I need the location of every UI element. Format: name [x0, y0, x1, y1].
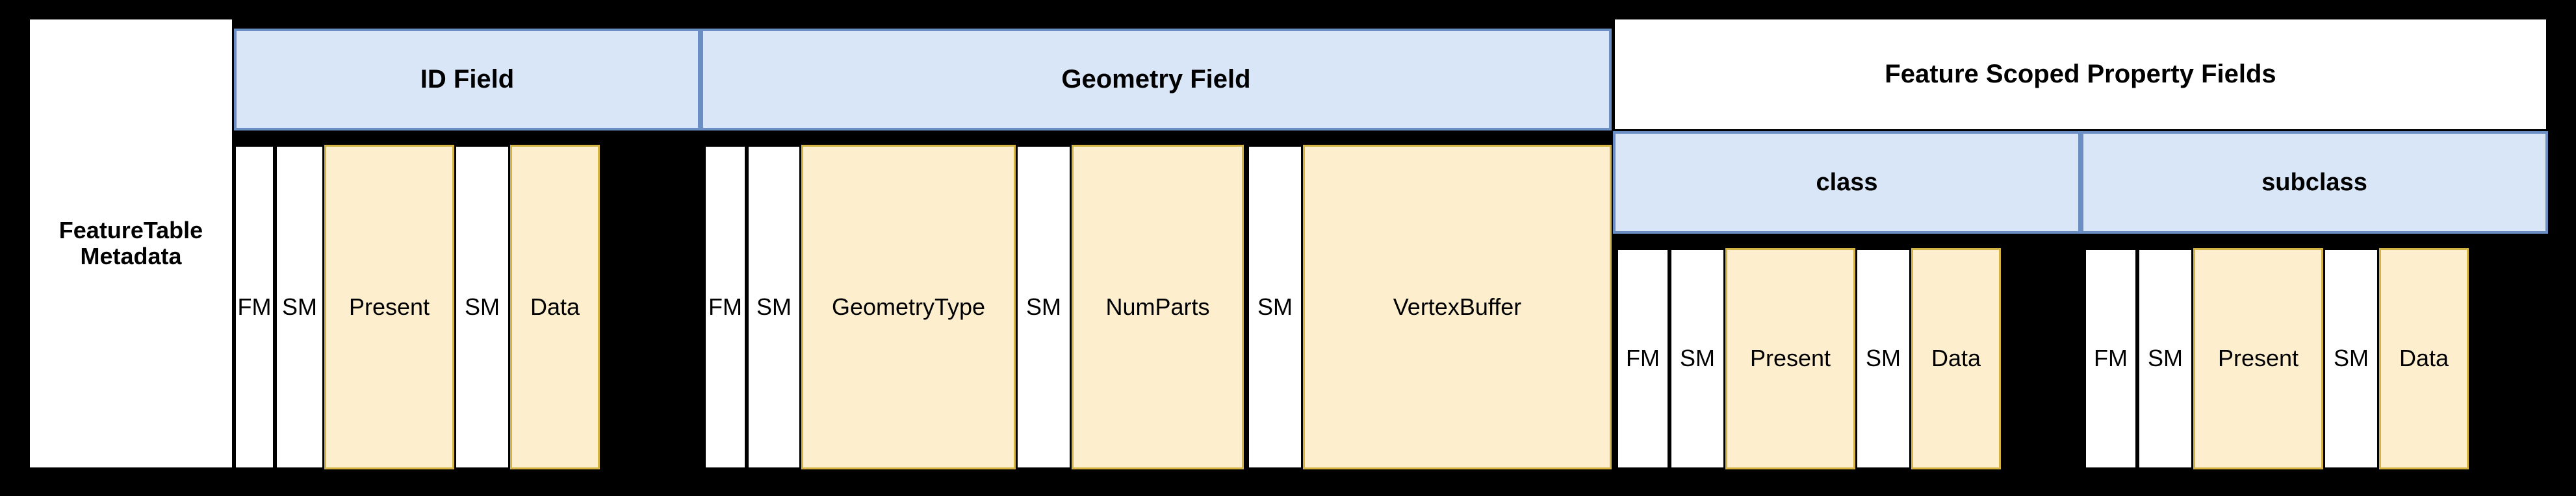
leaf-subclass-sm-2-label: SM [2334, 345, 2369, 371]
group-header-geometry-field: Geometry Field [701, 29, 1612, 130]
featuretable-metadata-line2: Metadata [80, 243, 181, 269]
leaf-id-field-present-label: Present [349, 294, 430, 320]
leaf-geometry-geometrytype-label: GeometryType [832, 294, 985, 320]
leaf-class-sm-1-label: SM [1680, 345, 1715, 371]
leaf-id-field-sm-2: SM [454, 145, 510, 469]
leaf-subclass-present-label: Present [2218, 345, 2299, 371]
leaf-class-fm: FM [1616, 248, 1669, 469]
leaf-geometry-sm-2: SM [1016, 145, 1072, 469]
leaf-geometry-sm-1-label: SM [756, 294, 792, 320]
leaf-subclass-sm-1: SM [2137, 248, 2193, 469]
leaf-geometry-fm-label: FM [708, 294, 742, 320]
leaf-geometry-sm-1: SM [747, 145, 801, 469]
leaf-class-data-label: Data [1931, 345, 1981, 371]
leaf-subclass-fm: FM [2084, 248, 2137, 469]
featuretable-metadata-cell: FeatureTable Metadata [28, 18, 234, 469]
leaf-class-fm-label: FM [1626, 345, 1660, 371]
leaf-geometry-fm: FM [704, 145, 747, 469]
leaf-id-field-data: Data [510, 145, 600, 469]
subgroup-header-subclass-label: subclass [2261, 169, 2367, 197]
leaf-id-field-present: Present [324, 145, 454, 469]
leaf-id-field-sm-2-label: SM [465, 294, 500, 320]
group-header-id-field-label: ID Field [420, 65, 514, 94]
featuretable-metadata-line1: FeatureTable [59, 217, 203, 243]
leaf-class-sm-1: SM [1669, 248, 1725, 469]
leaf-id-field-fm: FM [234, 145, 275, 469]
group-header-geometry-field-label: Geometry Field [1061, 65, 1250, 94]
leaf-class-present: Present [1725, 248, 1855, 469]
subgroup-header-subclass: subclass [2081, 131, 2548, 234]
leaf-geometry-vertexbuffer: VertexBuffer [1303, 145, 1612, 469]
featuretable-layout-diagram: FeatureTable Metadata ID Field FM SM Pre… [0, 0, 2576, 496]
leaf-subclass-data: Data [2379, 248, 2469, 469]
group-header-feature-scoped-property-fields: Feature Scoped Property Fields [1613, 18, 2548, 131]
leaf-id-field-sm-1: SM [275, 145, 324, 469]
leaf-geometry-sm-3: SM [1247, 145, 1303, 469]
leaf-geometry-sm-2-label: SM [1026, 294, 1061, 320]
leaf-class-present-label: Present [1750, 345, 1831, 371]
subgroup-header-class: class [1613, 131, 2081, 234]
leaf-geometry-vertexbuffer-label: VertexBuffer [1393, 294, 1521, 320]
leaf-class-sm-2: SM [1855, 248, 1911, 469]
leaf-id-field-data-label: Data [530, 294, 580, 320]
leaf-geometry-numparts-label: NumParts [1105, 294, 1209, 320]
leaf-geometry-numparts: NumParts [1072, 145, 1244, 469]
leaf-subclass-sm-2: SM [2323, 248, 2379, 469]
leaf-subclass-fm-label: FM [2094, 345, 2128, 371]
leaf-subclass-data-label: Data [2399, 345, 2449, 371]
leaf-class-data: Data [1911, 248, 2001, 469]
leaf-subclass-sm-1-label: SM [2148, 345, 2183, 371]
leaf-geometry-sm-3-label: SM [1257, 294, 1293, 320]
group-header-feature-scoped-property-fields-label: Feature Scoped Property Fields [1885, 60, 2276, 89]
subgroup-header-class-label: class [1816, 169, 1877, 197]
group-header-id-field: ID Field [234, 29, 701, 130]
leaf-class-sm-2-label: SM [1866, 345, 1901, 371]
leaf-geometry-geometrytype: GeometryType [801, 145, 1016, 469]
leaf-id-field-fm-label: FM [238, 294, 272, 320]
leaf-subclass-present: Present [2193, 248, 2323, 469]
leaf-id-field-sm-1-label: SM [282, 294, 317, 320]
